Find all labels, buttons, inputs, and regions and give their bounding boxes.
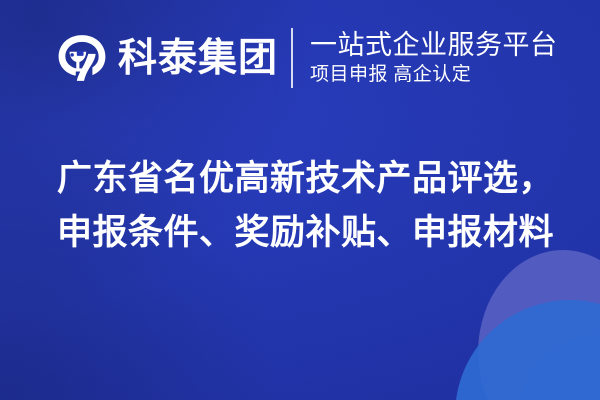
- headline: 广东省名优高新技术产品评选， 申报条件、奖励补贴、申报材料: [57, 152, 557, 260]
- bright-blue-circle-decoration-secondary: [517, 335, 600, 400]
- promo-banner: 科泰集团 一站式企业服务平台 项目申报 高企认定 广东省名优高新技术产品评选， …: [0, 0, 600, 400]
- header-divider: [291, 28, 293, 88]
- tagline-sub: 项目申报 高企认定: [310, 63, 558, 87]
- brand-lockup: 科泰集团: [56, 26, 278, 90]
- ketai-circular-emblem-icon: [56, 32, 108, 84]
- tagline-block: 一站式企业服务平台 项目申报 高企认定: [310, 26, 558, 90]
- brand-name: 科泰集团: [118, 39, 278, 78]
- bright-blue-circle-decoration: [455, 300, 600, 400]
- headline-line-1: 广东省名优高新技术产品评选，: [57, 152, 557, 206]
- tagline-main: 一站式企业服务平台: [310, 30, 558, 60]
- periwinkle-circle-decoration: [478, 250, 600, 400]
- headline-line-2: 申报条件、奖励补贴、申报材料: [57, 206, 557, 260]
- banner-header: 科泰集团 一站式企业服务平台 项目申报 高企认定: [56, 26, 558, 90]
